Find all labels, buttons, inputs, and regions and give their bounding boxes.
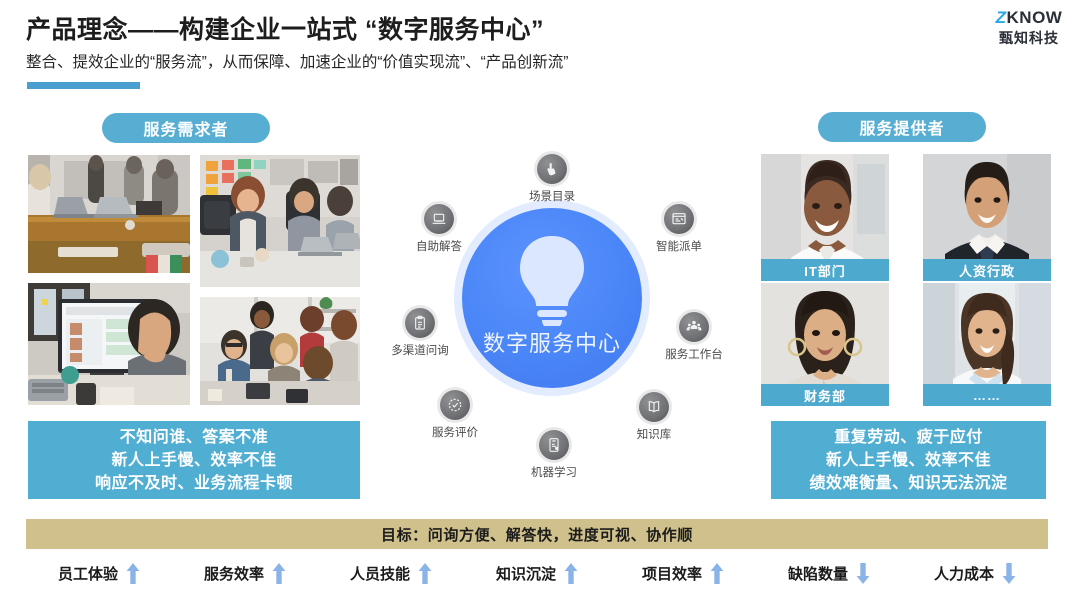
hub-node-1[interactable]: 场景目录	[509, 154, 595, 204]
portrait-hr-admin: 人资行政	[923, 154, 1051, 281]
metrics-row: 员工体验服务效率人员技能知识沉淀项目效率缺陷数量人力成本	[26, 556, 1048, 590]
requester-pain-line-1: 不知问谁、答案不准	[120, 426, 269, 449]
provider-portrait-grid: IT部门 人资行政	[761, 154, 1051, 406]
hub-node-label: 知识库	[611, 426, 697, 442]
pill-service-requester: 服务需求者	[102, 113, 270, 143]
photo-agent-at-monitor-art	[28, 283, 190, 405]
arrow-down-icon	[1002, 563, 1016, 584]
portrait-finance: 财务部	[761, 283, 889, 406]
hub-center-label: 数字服务中心	[483, 326, 621, 358]
hub-node-label: 多渠道问询	[377, 342, 463, 358]
photo-team-collaboration-desks-art	[200, 155, 360, 287]
requester-pain-line-2: 新人上手慢、效率不佳	[111, 449, 276, 472]
requester-photo-grid	[28, 155, 360, 405]
mobile-device-icon	[539, 430, 569, 460]
portrait-others: ……	[923, 283, 1051, 406]
hub-node-5[interactable]: 机器学习	[511, 430, 597, 480]
laptop-icon	[424, 204, 454, 234]
clipboard-icon	[405, 308, 435, 338]
hub-node-4[interactable]: 知识库	[611, 392, 697, 442]
metric-label: 人员技能	[350, 563, 410, 584]
photo-meeting-room-laptops	[28, 155, 190, 273]
portrait-caption-it: IT部门	[761, 259, 889, 281]
dispatch-board-icon	[664, 204, 694, 234]
metric-item-5: 项目效率	[610, 563, 756, 584]
service-desk-people-icon	[679, 312, 709, 342]
photo-team-collaboration-desks	[200, 155, 360, 287]
photo-open-office-discussion-art	[200, 297, 360, 405]
hub-node-label: 场景目录	[509, 188, 595, 204]
hub-node-label: 智能派单	[636, 238, 722, 254]
portrait-it-department: IT部门	[761, 154, 889, 281]
arrow-up-icon	[710, 563, 724, 584]
arrow-up-icon	[418, 563, 432, 584]
metric-item-2: 服务效率	[172, 563, 318, 584]
logo-wordmark-rest: KNOW	[1007, 8, 1063, 27]
logo-z-glyph: Z	[996, 8, 1007, 27]
hub-node-label: 机器学习	[511, 464, 597, 480]
lightbulb-icon	[515, 234, 589, 331]
slide-root: 产品理念——构建企业一站式 “数字服务中心” 整合、提效企业的“服务流”，从而保…	[0, 0, 1080, 601]
pill-service-provider: 服务提供者	[818, 112, 986, 142]
provider-pain-line-2: 新人上手慢、效率不佳	[826, 449, 991, 472]
arrow-down-icon	[856, 563, 870, 584]
hub-node-label: 服务工作台	[651, 346, 737, 362]
hub-node-7[interactable]: 多渠道问询	[377, 308, 463, 358]
metric-item-6: 缺陷数量	[756, 563, 902, 584]
digital-service-hub: 数字服务中心 场景目录智能派单服务工作台知识库机器学习服务评价多渠道问询自助解答	[392, 142, 712, 482]
metric-label: 缺陷数量	[788, 563, 848, 584]
photo-open-office-discussion	[200, 297, 360, 405]
arrow-up-icon	[126, 563, 140, 584]
metric-label: 项目效率	[642, 563, 702, 584]
metric-label: 知识沉淀	[496, 563, 556, 584]
metric-label: 员工体验	[58, 563, 118, 584]
slide-header: 产品理念——构建企业一站式 “数字服务中心” 整合、提效企业的“服务流”，从而保…	[0, 0, 1080, 92]
goal-bar: 目标：问询方便、解答快，进度可视、协作顺	[26, 519, 1048, 549]
portrait-caption-others: ……	[923, 384, 1051, 406]
photo-meeting-room-laptops-art	[28, 155, 190, 273]
provider-pain-line-3: 绩效难衡量、知识无法沉淀	[809, 472, 1007, 495]
rating-check-icon	[440, 390, 470, 420]
hub-node-label: 自助解答	[396, 238, 482, 254]
metric-item-1: 员工体验	[26, 563, 172, 584]
hub-core-circle: 数字服务中心	[462, 208, 642, 388]
portrait-caption-hr: 人资行政	[923, 259, 1051, 281]
metric-item-4: 知识沉淀	[464, 563, 610, 584]
metric-label: 服务效率	[204, 563, 264, 584]
requester-pain-line-3: 响应不及时、业务流程卡顿	[95, 472, 293, 495]
arrow-up-icon	[272, 563, 286, 584]
provider-pain-line-1: 重复劳动、疲于应付	[834, 426, 983, 449]
title-accent-bar	[27, 82, 140, 89]
page-title: 产品理念——构建企业一站式 “数字服务中心”	[26, 10, 544, 46]
metric-item-7: 人力成本	[902, 563, 1048, 584]
hand-tap-icon	[537, 154, 567, 184]
hub-node-3[interactable]: 服务工作台	[651, 312, 737, 362]
open-book-icon	[639, 392, 669, 422]
metric-item-3: 人员技能	[318, 563, 464, 584]
provider-pain-points: 重复劳动、疲于应付 新人上手慢、效率不佳 绩效难衡量、知识无法沉淀	[771, 421, 1046, 499]
hub-node-label: 服务评价	[412, 424, 498, 440]
arrow-up-icon	[564, 563, 578, 584]
portrait-caption-finance: 财务部	[761, 384, 889, 406]
metric-label: 人力成本	[934, 563, 994, 584]
hub-node-8[interactable]: 自助解答	[396, 204, 482, 254]
logo-chinese-name: 甄知科技	[986, 29, 1072, 47]
requester-pain-points: 不知问谁、答案不准 新人上手慢、效率不佳 响应不及时、业务流程卡顿	[28, 421, 360, 499]
logo-wordmark: ZKNOW	[986, 8, 1072, 28]
hub-node-6[interactable]: 服务评价	[412, 390, 498, 440]
photo-agent-at-monitor	[28, 283, 190, 405]
hub-node-2[interactable]: 智能派单	[636, 204, 722, 254]
brand-logo: ZKNOW 甄知科技	[986, 8, 1072, 47]
page-subtitle: 整合、提效企业的“服务流”，从而保障、加速企业的“价值实现流”、“产品创新流”	[26, 50, 568, 72]
